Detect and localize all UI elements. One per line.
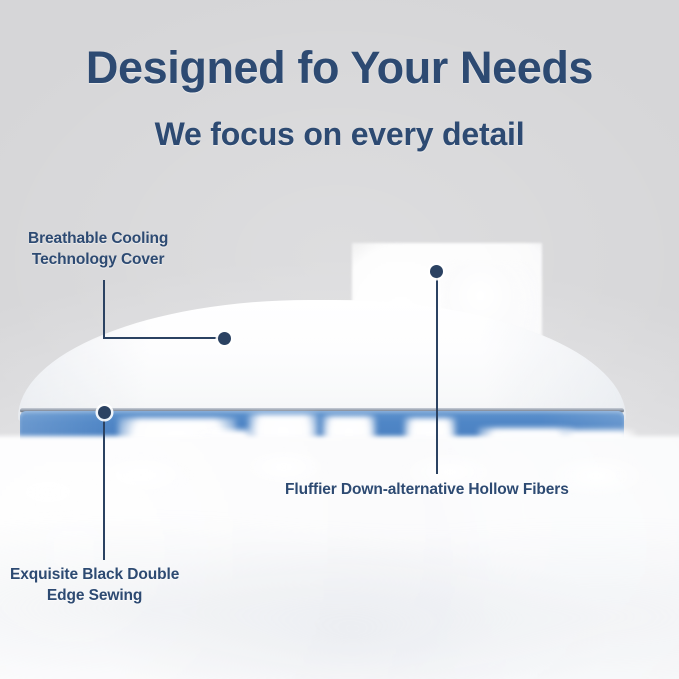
- callout-cover-dot: [218, 332, 231, 345]
- callout-sewing-line1: Exquisite Black Double: [10, 565, 179, 586]
- callout-fibers-dot: [430, 265, 443, 278]
- callout-cover-line1: Breathable Cooling: [28, 229, 168, 250]
- callout-cover-label: Breathable Cooling Technology Cover: [28, 229, 168, 271]
- callout-sewing-leader-vertical: [103, 412, 105, 560]
- callout-fibers-line1: Fluffier Down-alternative Hollow Fibers: [285, 480, 569, 501]
- callout-cover-leader-horizontal: [103, 337, 225, 339]
- callout-sewing-dot: [98, 406, 111, 419]
- fiber-wisp: [0, 470, 96, 514]
- product-infographic: Designed fo Your Needs We focus on every…: [0, 0, 679, 679]
- callout-fibers-label: Fluffier Down-alternative Hollow Fibers: [285, 480, 569, 501]
- callout-cover-leader-vertical: [103, 280, 105, 338]
- callout-sewing-label: Exquisite Black Double Edge Sewing: [10, 565, 179, 607]
- callout-fibers-leader-vertical: [436, 271, 438, 474]
- callout-sewing-line2: Edge Sewing: [10, 586, 179, 607]
- callout-cover-line2: Technology Cover: [28, 250, 168, 271]
